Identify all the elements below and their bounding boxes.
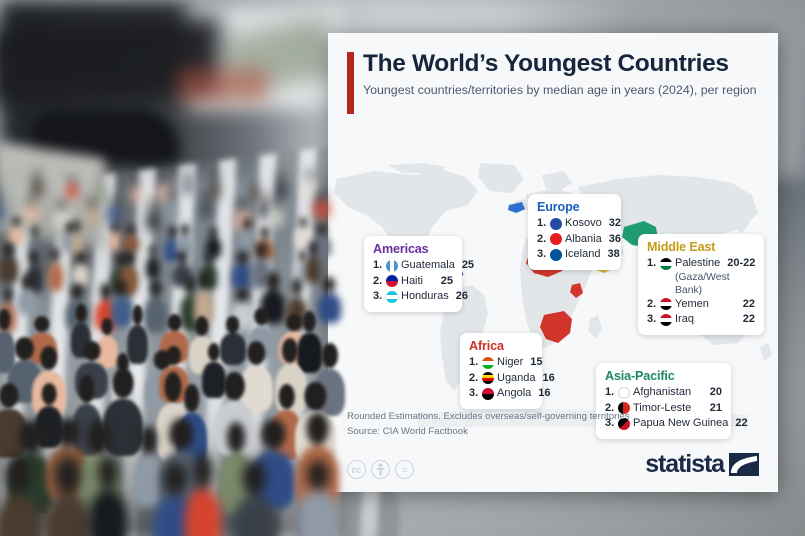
list-item: 2. Yemen 22 xyxy=(647,297,755,313)
page-title: The World’s Youngest Countries xyxy=(363,50,760,77)
uganda-flag xyxy=(482,372,494,384)
photo-pedestrian xyxy=(314,201,329,218)
photo-pedestrian xyxy=(202,362,225,398)
median-age-value: 38 xyxy=(607,247,619,263)
photo-pedestrian xyxy=(146,257,160,279)
photo-pedestrian xyxy=(89,490,127,536)
median-age-value: 16 xyxy=(538,386,550,402)
median-age-value: 25 xyxy=(462,258,474,274)
haiti-flag xyxy=(386,275,398,287)
rank: 1. xyxy=(605,385,618,401)
card-header: The World’s Youngest Countries Youngest … xyxy=(328,33,778,100)
photo-pedestrian xyxy=(182,180,194,194)
photo-pedestrian xyxy=(211,181,220,199)
title-accent-bar xyxy=(347,52,354,114)
region-title-africa: Africa xyxy=(469,339,533,353)
country-name: Yemen xyxy=(675,297,736,313)
photo-pedestrian xyxy=(251,187,259,201)
photo-pedestrian xyxy=(271,207,282,227)
photo-pedestrian xyxy=(17,289,37,315)
photo-pedestrian xyxy=(107,206,119,223)
median-age-value: 20-22 xyxy=(727,256,755,272)
rank: 3. xyxy=(647,312,660,328)
iceland-flag xyxy=(550,249,562,261)
afghanistan-flag xyxy=(618,387,630,399)
list-item: 3. Angola 16 xyxy=(469,386,533,402)
palestine-note: (Gaza/West Bank) xyxy=(675,271,755,297)
country-name: Palestine xyxy=(675,256,720,272)
honduras-flag xyxy=(386,291,398,303)
albania-flag xyxy=(550,233,562,245)
country-name: Haiti xyxy=(401,274,434,290)
rank: 2. xyxy=(537,232,550,248)
list-item: 3. Iceland 38 xyxy=(537,247,612,263)
region-card-middle-east[interactable]: Middle East 1. Palestine 20-22 (Gaza/Wes… xyxy=(638,234,764,335)
list-item: 3. Iraq 22 xyxy=(647,312,755,328)
world-map-area: Americas 1. Guatemala 25 2. Haiti 25 3. … xyxy=(328,161,778,429)
angola-flag xyxy=(482,388,494,400)
country-name: Iceland xyxy=(565,247,600,263)
list-item: 3. Honduras 26 xyxy=(373,289,453,305)
photo-pedestrian xyxy=(103,399,143,456)
rank: 1. xyxy=(373,258,386,274)
photo-pedestrian xyxy=(239,230,255,251)
median-age-value: 25 xyxy=(441,274,453,290)
region-title-middle-east: Middle East xyxy=(647,240,755,254)
page-subtitle: Youngest countries/territories by median… xyxy=(363,82,760,99)
card-footer: Rounded Estimations. Excludes overseas/s… xyxy=(328,410,778,492)
photo-pedestrian xyxy=(304,180,315,198)
footer-row: cc = statista xyxy=(347,450,759,479)
rank: 3. xyxy=(469,386,482,402)
region-title-americas: Americas xyxy=(373,242,453,256)
rank: 1. xyxy=(647,256,660,272)
median-age-value: 15 xyxy=(530,355,542,371)
map-country-iceland xyxy=(508,202,525,213)
list-item: 1. Guatemala 25 xyxy=(373,258,453,274)
footnote-estimations: Rounded Estimations. Excludes overseas/s… xyxy=(347,410,759,424)
list-item: 2. Uganda 16 xyxy=(469,371,533,387)
kosovo-flag xyxy=(550,218,562,230)
footnote-source: Source: CIA World Factbook xyxy=(347,425,759,439)
rank: 2. xyxy=(373,274,386,290)
country-name: Iraq xyxy=(675,312,736,328)
photo-pedestrian xyxy=(66,184,78,198)
cc-icon[interactable]: cc xyxy=(347,460,366,479)
country-name: Guatemala xyxy=(401,258,455,274)
statista-mark-icon xyxy=(729,453,759,476)
rank: 3. xyxy=(537,247,550,263)
guatemala-flag xyxy=(386,260,398,272)
photo-pedestrian xyxy=(144,298,167,333)
list-item: 1. Kosovo 32 xyxy=(537,216,612,232)
photo-pedestrian xyxy=(318,293,341,323)
creative-commons-icons: cc = xyxy=(347,460,414,479)
cc-nd-equals-icon[interactable]: = xyxy=(395,460,414,479)
person-glyph xyxy=(375,463,386,476)
niger-flag xyxy=(482,357,494,369)
palestine-flag xyxy=(660,258,672,270)
photo-pedestrian xyxy=(220,333,246,364)
country-name: Niger xyxy=(497,355,523,371)
photo-pedestrian xyxy=(167,200,177,222)
list-item: 2. Albania 36 xyxy=(537,232,612,248)
photo-pedestrian xyxy=(9,227,24,245)
median-age-value: 36 xyxy=(609,232,621,248)
country-name: Afghanistan xyxy=(633,385,703,401)
region-title-europe: Europe xyxy=(537,200,612,214)
iraq-flag xyxy=(660,314,672,326)
list-item: 1. Niger 15 xyxy=(469,355,533,371)
region-card-africa[interactable]: Africa 1. Niger 15 2. Uganda 16 3. Angol… xyxy=(460,333,542,409)
rank: 1. xyxy=(469,355,482,371)
photo-pedestrian xyxy=(24,205,37,222)
statista-logo[interactable]: statista xyxy=(645,450,759,479)
photo-pedestrian xyxy=(259,202,269,219)
photo-pedestrian xyxy=(305,256,321,283)
photo-pedestrian xyxy=(31,180,43,197)
region-card-americas[interactable]: Americas 1. Guatemala 25 2. Haiti 25 3. … xyxy=(364,236,462,312)
photo-pedestrian xyxy=(109,232,120,250)
median-age-value: 22 xyxy=(743,297,755,313)
photo-pedestrian xyxy=(147,210,157,230)
country-name: Albania xyxy=(565,232,602,248)
median-age-value: 16 xyxy=(543,371,555,387)
photo-pedestrian xyxy=(72,264,89,286)
median-age-value: 26 xyxy=(456,289,468,305)
statista-wordmark: statista xyxy=(645,450,724,479)
list-item: 2. Haiti 25 xyxy=(373,274,453,290)
list-item: 1. Palestine 20-22 xyxy=(647,256,755,272)
photo-pedestrian xyxy=(297,333,321,373)
median-age-value: 32 xyxy=(609,216,621,232)
list-item: 1. Afghanistan 20 xyxy=(605,385,722,401)
photo-pedestrian xyxy=(111,296,132,327)
yemen-flag xyxy=(660,298,672,310)
rank: 2. xyxy=(647,297,660,313)
country-name: Honduras xyxy=(401,289,449,305)
photo-pedestrian xyxy=(132,186,141,201)
photo-pedestrian xyxy=(122,235,139,253)
photo-pedestrian xyxy=(97,185,105,201)
photo-pedestrian xyxy=(127,325,148,363)
rank: 1. xyxy=(537,216,550,232)
cc-by-person-icon[interactable] xyxy=(371,460,390,479)
region-card-europe[interactable]: Europe 1. Kosovo 32 2. Albania 36 3. Ice… xyxy=(528,194,621,270)
median-age-value: 20 xyxy=(710,385,722,401)
country-name: Kosovo xyxy=(565,216,602,232)
photo-pedestrian xyxy=(297,491,339,536)
country-name: Uganda xyxy=(497,371,536,387)
photo-pedestrian xyxy=(85,208,100,226)
infographic-card: The World’s Youngest Countries Youngest … xyxy=(328,33,778,492)
photo-pedestrian xyxy=(200,200,212,219)
country-name: Angola xyxy=(497,386,531,402)
photo-pedestrian xyxy=(0,257,18,283)
rank: 3. xyxy=(373,289,386,305)
rank: 2. xyxy=(469,371,482,387)
median-age-value: 22 xyxy=(743,312,755,328)
photo-pedestrian xyxy=(158,184,169,202)
region-title-asia-pacific: Asia-Pacific xyxy=(605,369,722,383)
photo-pedestrian xyxy=(48,263,63,291)
